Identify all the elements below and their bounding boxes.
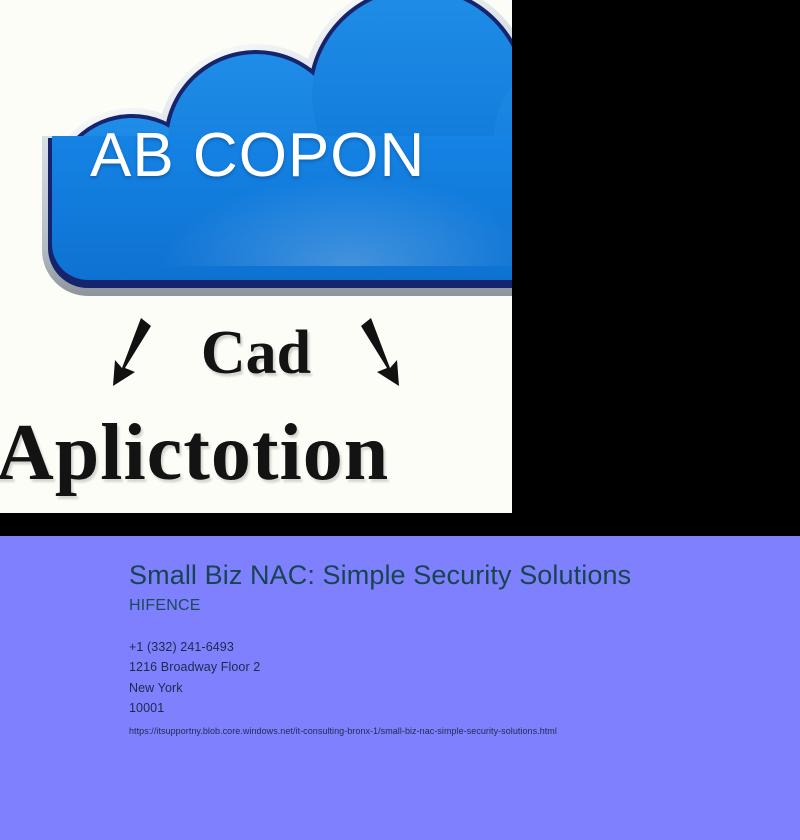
source-url[interactable]: https://itsupportny.blob.core.windows.ne… — [129, 726, 800, 736]
caption-word-cad: Cad — [201, 322, 311, 384]
caption-row: Cad — [0, 316, 512, 390]
signboard-illustration: AB COPON Cad Aplictotion — [0, 0, 512, 513]
page-title: Small Biz NAC: Simple Security Solutions — [129, 560, 800, 591]
info-panel: Small Biz NAC: Simple Security Solutions… — [0, 536, 800, 840]
brand-name: HIFENCE — [129, 597, 800, 615]
page-root: AB COPON Cad Aplictotion Small Biz NAC: … — [0, 0, 800, 840]
caption-word-application: Aplictotion — [0, 408, 512, 499]
contact-zip: 10001 — [129, 698, 800, 718]
contact-phone: +1 (332) 241-6493 — [129, 637, 800, 657]
arrow-down-right-icon — [357, 316, 403, 390]
contact-street: 1216 Broadway Floor 2 — [129, 657, 800, 677]
contact-city: New York — [129, 678, 800, 698]
cloud-headline-text: AB COPON — [90, 120, 512, 191]
contact-block: +1 (332) 241-6493 1216 Broadway Floor 2 … — [129, 637, 800, 719]
arrow-down-left-icon — [109, 316, 155, 390]
hero-image: AB COPON Cad Aplictotion — [0, 0, 512, 513]
